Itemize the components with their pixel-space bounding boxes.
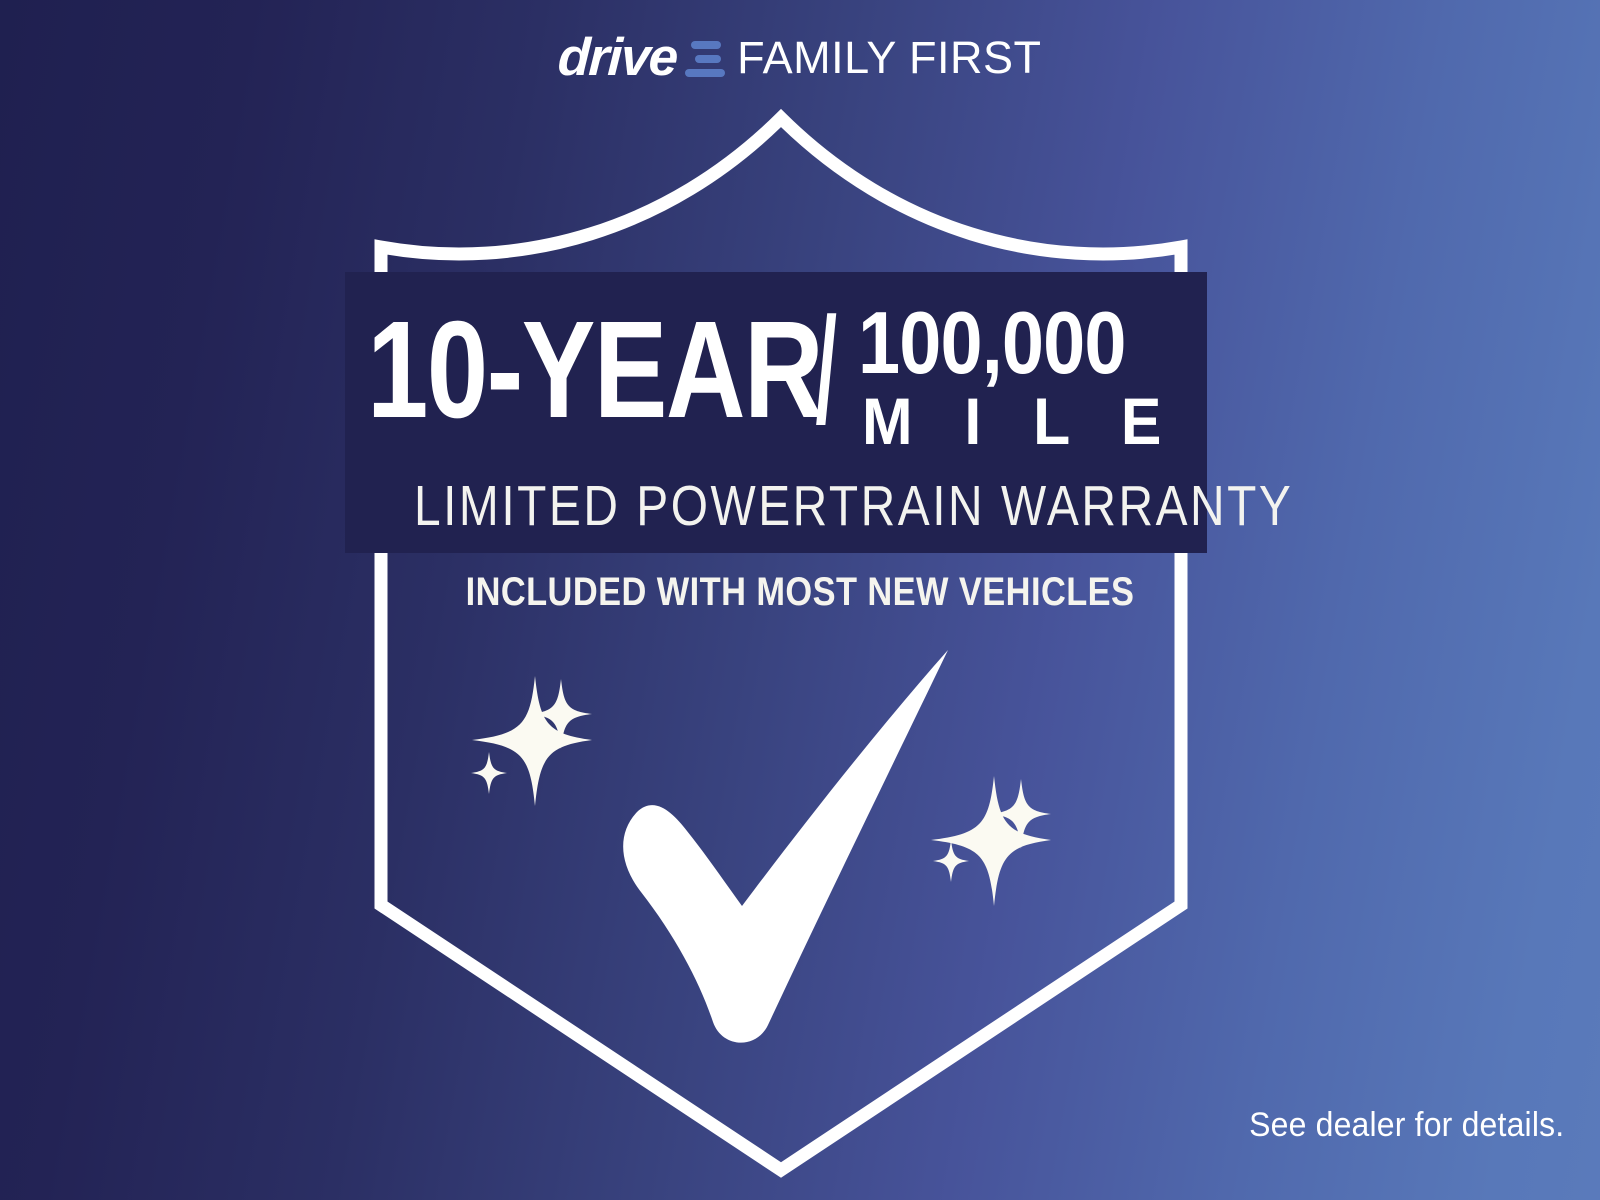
promo-banner: drive FAMILY FIRST 10-YEAR /: [0, 0, 1600, 1200]
included-note: INCLUDED WITH MOST NEW VEHICLES: [112, 570, 1488, 614]
headline-row: 10-YEAR / 100,000 M I L E: [367, 296, 1185, 456]
headline-miles-block: 100,000 M I L E: [858, 296, 1206, 454]
headline-miles-number: 100,000: [858, 300, 1158, 386]
headline-banner: 10-YEAR / 100,000 M I L E LIMITED POWERT…: [345, 272, 1207, 553]
sparkle-cluster-right: [931, 776, 1051, 906]
warranty-subtitle: LIMITED POWERTRAIN WARRANTY: [414, 477, 1138, 535]
headline-separator: /: [815, 296, 837, 444]
headline-miles-word: M I L E: [862, 388, 1179, 454]
headline-years: 10-YEAR: [367, 296, 822, 444]
sparkle-cluster-left: [471, 676, 592, 806]
checkmark-icon: [623, 650, 948, 1043]
dealer-footnote: See dealer for details.: [1249, 1106, 1564, 1144]
sparkle-star-icon-large: [931, 776, 1051, 906]
sparkle-star-icon-small: [471, 752, 507, 794]
